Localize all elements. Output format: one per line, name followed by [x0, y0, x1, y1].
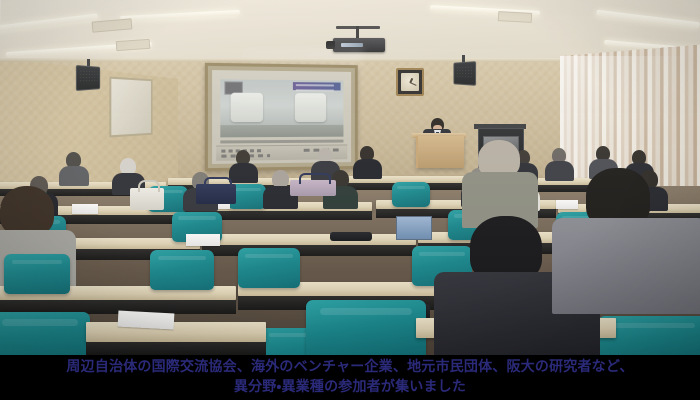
chair [4, 254, 70, 294]
person-body [229, 163, 258, 183]
slide-image [221, 80, 343, 138]
wall-speaker-left [76, 65, 100, 91]
laptop [396, 216, 432, 240]
ceiling-projector [333, 38, 385, 52]
caption-line-1: 周辺自治体の国際交流協会、海外のベンチャー企業、地元市民団体、阪大の研究者など、 [66, 358, 633, 377]
handout [186, 234, 220, 246]
left-window [109, 77, 152, 138]
wall-speaker-right [453, 61, 476, 86]
slide-caption-bar [293, 82, 341, 91]
projection-screen [205, 63, 358, 171]
desk-front-panel [86, 342, 266, 355]
slide-object [295, 93, 326, 123]
chair [150, 250, 214, 290]
desk [202, 234, 416, 245]
video-progress-bar [221, 140, 343, 144]
handbag [130, 188, 164, 210]
ceiling-vent [498, 11, 532, 23]
chair [238, 248, 300, 288]
slide-ground [221, 125, 343, 138]
wall-clock [396, 68, 424, 96]
coat-on-chair [290, 180, 336, 196]
person-body [545, 161, 574, 181]
clock-minute-hand [410, 82, 417, 86]
seminar-photo [0, 0, 700, 355]
person-body [59, 166, 89, 186]
handout [556, 200, 578, 209]
bag [196, 184, 236, 204]
chair [0, 312, 90, 355]
person-body [552, 218, 700, 314]
slide-object [231, 92, 263, 122]
pencil-case [330, 232, 372, 241]
desk-front-panel [202, 245, 416, 256]
chair [306, 300, 426, 355]
clock-face [401, 73, 419, 91]
handout [72, 204, 98, 214]
person-body [353, 159, 382, 179]
photo-figure: 周辺自治体の国際交流協会、海外のベンチャー企業、地元市民団体、阪大の研究者など、… [0, 0, 700, 400]
desk [86, 322, 266, 342]
chair [392, 182, 430, 207]
podium [416, 136, 464, 168]
handout [118, 311, 175, 330]
caption-line-2: 異分野・異業種の参加者が集いました [234, 378, 466, 397]
projector-vent [341, 43, 363, 47]
caption-band: 周辺自治体の国際交流協会、海外のベンチャー企業、地元市民団体、阪大の研究者など、… [0, 355, 700, 400]
person-head [0, 186, 54, 236]
